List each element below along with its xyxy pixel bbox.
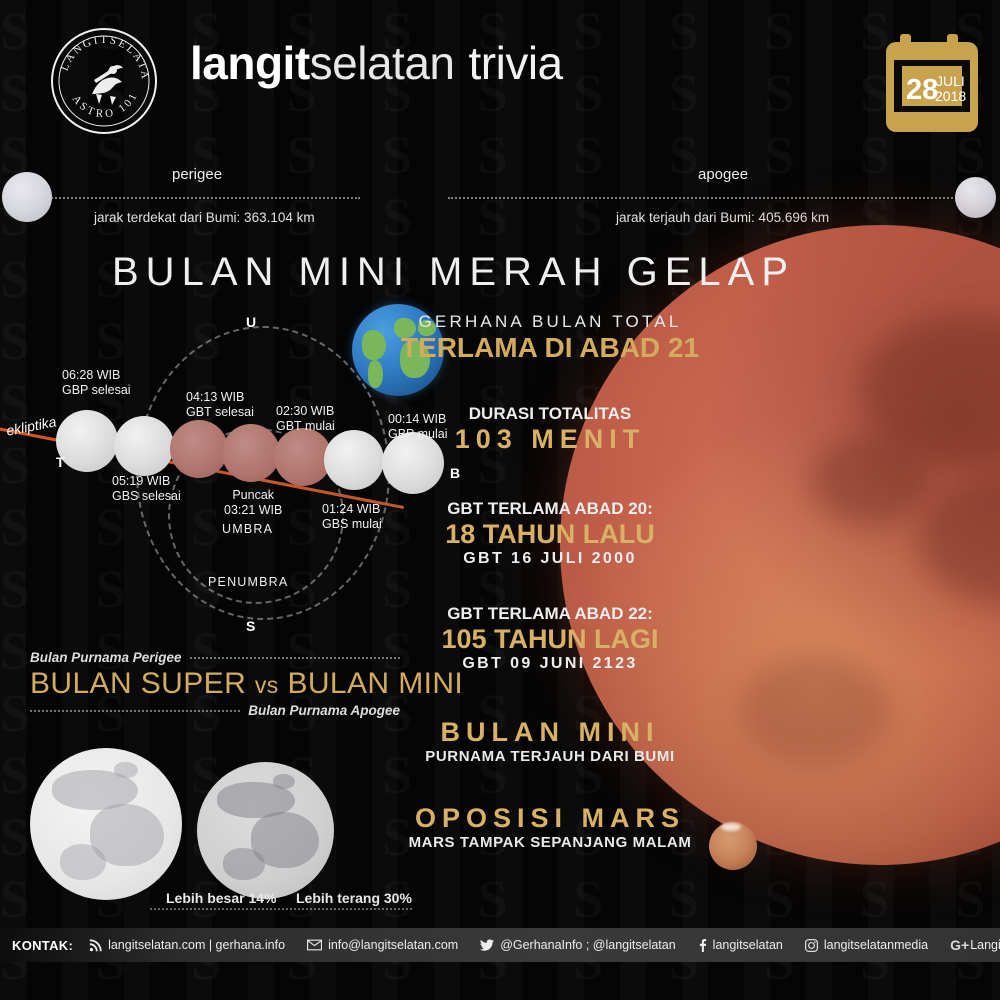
mars-planet	[709, 822, 757, 870]
eclipse-headline: TERLAMA DI ABAD 21	[400, 332, 700, 364]
page-title: BULAN MINI MERAH GELAP	[112, 250, 795, 295]
note-rule-top	[190, 657, 400, 659]
phase-time: 01:24 WIB	[322, 502, 382, 517]
stat-eclipse-record: GERHANA BULAN TOTAL TERLAMA DI ABAD 21	[400, 312, 700, 364]
brand-trivia: trivia	[469, 37, 563, 89]
footer-twitter-link[interactable]: @GerhanaInfo ; @langitselatan	[480, 938, 675, 952]
stat-century-22: GBT TERLAMA ABAD 22: 105 TAHUN LAGI GBT …	[400, 604, 700, 673]
phase-time: 05:19 WIB	[112, 474, 181, 489]
footer-twitter-text: @GerhanaInfo ; @langitselatan	[500, 938, 675, 952]
stat-century-20: GBT TERLAMA ABAD 20: 18 TAHUN LALU GBT 1…	[400, 499, 700, 568]
phase-time: 04:13 WIB	[186, 390, 254, 405]
stat-mars-opposition: OPOSISI MARS MARS TAMPAK SEPANJANG MALAM	[400, 803, 700, 851]
minimoon-title: BULAN MINI	[400, 717, 700, 748]
phase-moon-gbs-selesai	[114, 416, 174, 476]
c22-label: GBT TERLAMA ABAD 22:	[400, 604, 700, 624]
perigee-dotted-line	[40, 197, 360, 199]
c20-value: 18 TAHUN LALU	[400, 519, 700, 550]
super-vs-mini-heading: Bulan Purnama Perigee BULAN SUPER vs BUL…	[30, 650, 400, 718]
phase-label-gbt-selesai: 04:13 WIB GBT selesai	[186, 390, 254, 420]
kontak-label: KONTAK:	[12, 938, 73, 953]
footer-instagram-link[interactable]: langitselatanmedia	[805, 938, 928, 952]
note-rule-bottom	[30, 710, 240, 712]
footer-facebook-link[interactable]: langitselatan	[698, 938, 783, 952]
comparison-title-left: BULAN SUPER	[30, 667, 246, 700]
apogee-label: apogee	[698, 166, 748, 183]
marker-t: T	[56, 454, 65, 470]
footer-googleplus-link[interactable]: G+ LangitselatanMedia	[950, 937, 1000, 953]
duration-label: DURASI TOTALITAS	[400, 404, 700, 424]
apogee-detail: jarak terjauh dari Bumi: 405.696 km	[616, 210, 829, 225]
phase-event: GBP selesai	[62, 383, 131, 398]
envelope-icon	[307, 939, 322, 951]
brand-thin: selatan	[310, 37, 455, 89]
umbra-label: UMBRA	[222, 522, 273, 536]
phase-moon-gbp-selesai	[56, 410, 118, 472]
phase-label-gbs-mulai: 01:24 WIB GBS mulai	[322, 502, 382, 532]
phase-label-gbs-selesai: 05:19 WIB GBS selesai	[112, 474, 181, 504]
facebook-icon	[698, 939, 707, 952]
twitter-icon	[480, 939, 494, 951]
rss-icon	[89, 939, 102, 952]
footer-facebook-text: langitselatan	[713, 938, 783, 952]
perigee-moon	[2, 172, 52, 222]
footer-instagram-text: langitselatanmedia	[824, 938, 928, 952]
mars-title: OPOSISI MARS	[400, 803, 700, 834]
stat-duration: DURASI TOTALITAS 103 MENIT	[400, 404, 700, 455]
phase-label-gbt-mulai: 02:30 WIB GBT mulai	[276, 404, 335, 434]
mars-sub: MARS TAMPAK SEPANJANG MALAM	[400, 834, 700, 851]
instagram-icon	[805, 939, 818, 952]
phase-time: 02:30 WIB	[276, 404, 335, 419]
comparison-title-right: BULAN MINI	[287, 667, 463, 700]
footer-googleplus-text: LangitselatanMedia	[970, 938, 1000, 952]
phase-event: GBS selesai	[112, 489, 181, 504]
perigee-detail: jarak terdekat dari Bumi: 363.104 km	[94, 210, 315, 225]
mars-polar-cap	[721, 823, 741, 831]
marker-u: U	[246, 314, 256, 330]
phase-moon-gbs-mulai	[324, 430, 384, 490]
perigee-label: perigee	[172, 166, 222, 183]
phase-event: GBT mulai	[276, 419, 335, 434]
stat-mini-moon: BULAN MINI PURNAMA TERJAUH DARI BUMI	[400, 717, 700, 765]
caption-brightness: Lebih terang 30%	[296, 890, 412, 906]
penumbra-label: PENUMBRA	[208, 575, 288, 589]
phase-label-gbp-selesai: 06:28 WIB GBP selesai	[62, 368, 131, 398]
footer-website-text: langitselatan.com | gerhana.info	[108, 938, 285, 952]
phase-event: GBT selesai	[186, 405, 254, 420]
footer-website-link[interactable]: langitselatan.com | gerhana.info	[89, 938, 285, 952]
brand-bold: langit	[190, 37, 310, 89]
comparison-title-vs: vs	[255, 672, 279, 698]
perigee-note: Bulan Purnama Perigee	[30, 650, 182, 665]
c22-value: 105 TAHUN LAGI	[400, 624, 700, 655]
peak-label: Puncak 03:21 WIB	[224, 488, 282, 518]
svg-text:ASTRO 101: ASTRO 101	[70, 89, 141, 120]
phase-moon-gbt-selesai	[170, 420, 228, 478]
footer-email-link[interactable]: info@langitselatan.com	[307, 938, 458, 952]
contact-footer: KONTAK: langitselatan.com | gerhana.info…	[0, 928, 1000, 962]
calendar-day: 28	[906, 74, 938, 106]
brand-title: langitselatantrivia	[190, 36, 563, 90]
apogee-note: Bulan Purnama Apogee	[248, 703, 400, 718]
caption-rule	[150, 908, 412, 910]
eclipse-kicker: GERHANA BULAN TOTAL	[400, 312, 700, 332]
minimoon-sub: PURNAMA TERJAUH DARI BUMI	[400, 748, 700, 765]
googleplus-icon: G+	[950, 937, 969, 953]
c20-date: GBT 16 JULI 2000	[400, 550, 700, 568]
footer-email-text: info@langitselatan.com	[328, 938, 458, 952]
peak-title: Puncak	[224, 488, 282, 503]
apogee-moon	[955, 177, 996, 218]
watermark-row: S S S S S S S S S S S S S S S S S S S S …	[0, 992, 1000, 1000]
mini-moon-illustration	[197, 762, 334, 899]
calendar-month: JULI	[936, 73, 965, 89]
peak-time: 03:21 WIB	[224, 503, 282, 518]
caption-size: Lebih besar 14%	[166, 890, 277, 906]
calendar-year: 2018	[935, 88, 966, 104]
phase-event: GBS mulai	[322, 517, 382, 532]
comparison-title: BULAN SUPER vs BULAN MINI	[30, 667, 400, 701]
phase-moon-puncak	[222, 424, 280, 482]
phase-time: 06:28 WIB	[62, 368, 131, 383]
calendar-badge: 28 JULI 2018	[884, 28, 980, 136]
marker-s: S	[246, 618, 255, 634]
c20-label: GBT TERLAMA ABAD 20:	[400, 499, 700, 519]
eclipse-stats-column: GERHANA BULAN TOTAL TERLAMA DI ABAD 21 D…	[400, 312, 700, 857]
apogee-dotted-line	[448, 197, 988, 199]
langitselatan-logo: LANGITSELATAN ASTRO 101	[34, 22, 174, 140]
super-moon-illustration	[30, 748, 182, 900]
duration-value: 103 MENIT	[400, 424, 700, 455]
infographic-canvas: S S S S S S S S S S S S S S S S S S S S …	[0, 0, 1000, 1000]
